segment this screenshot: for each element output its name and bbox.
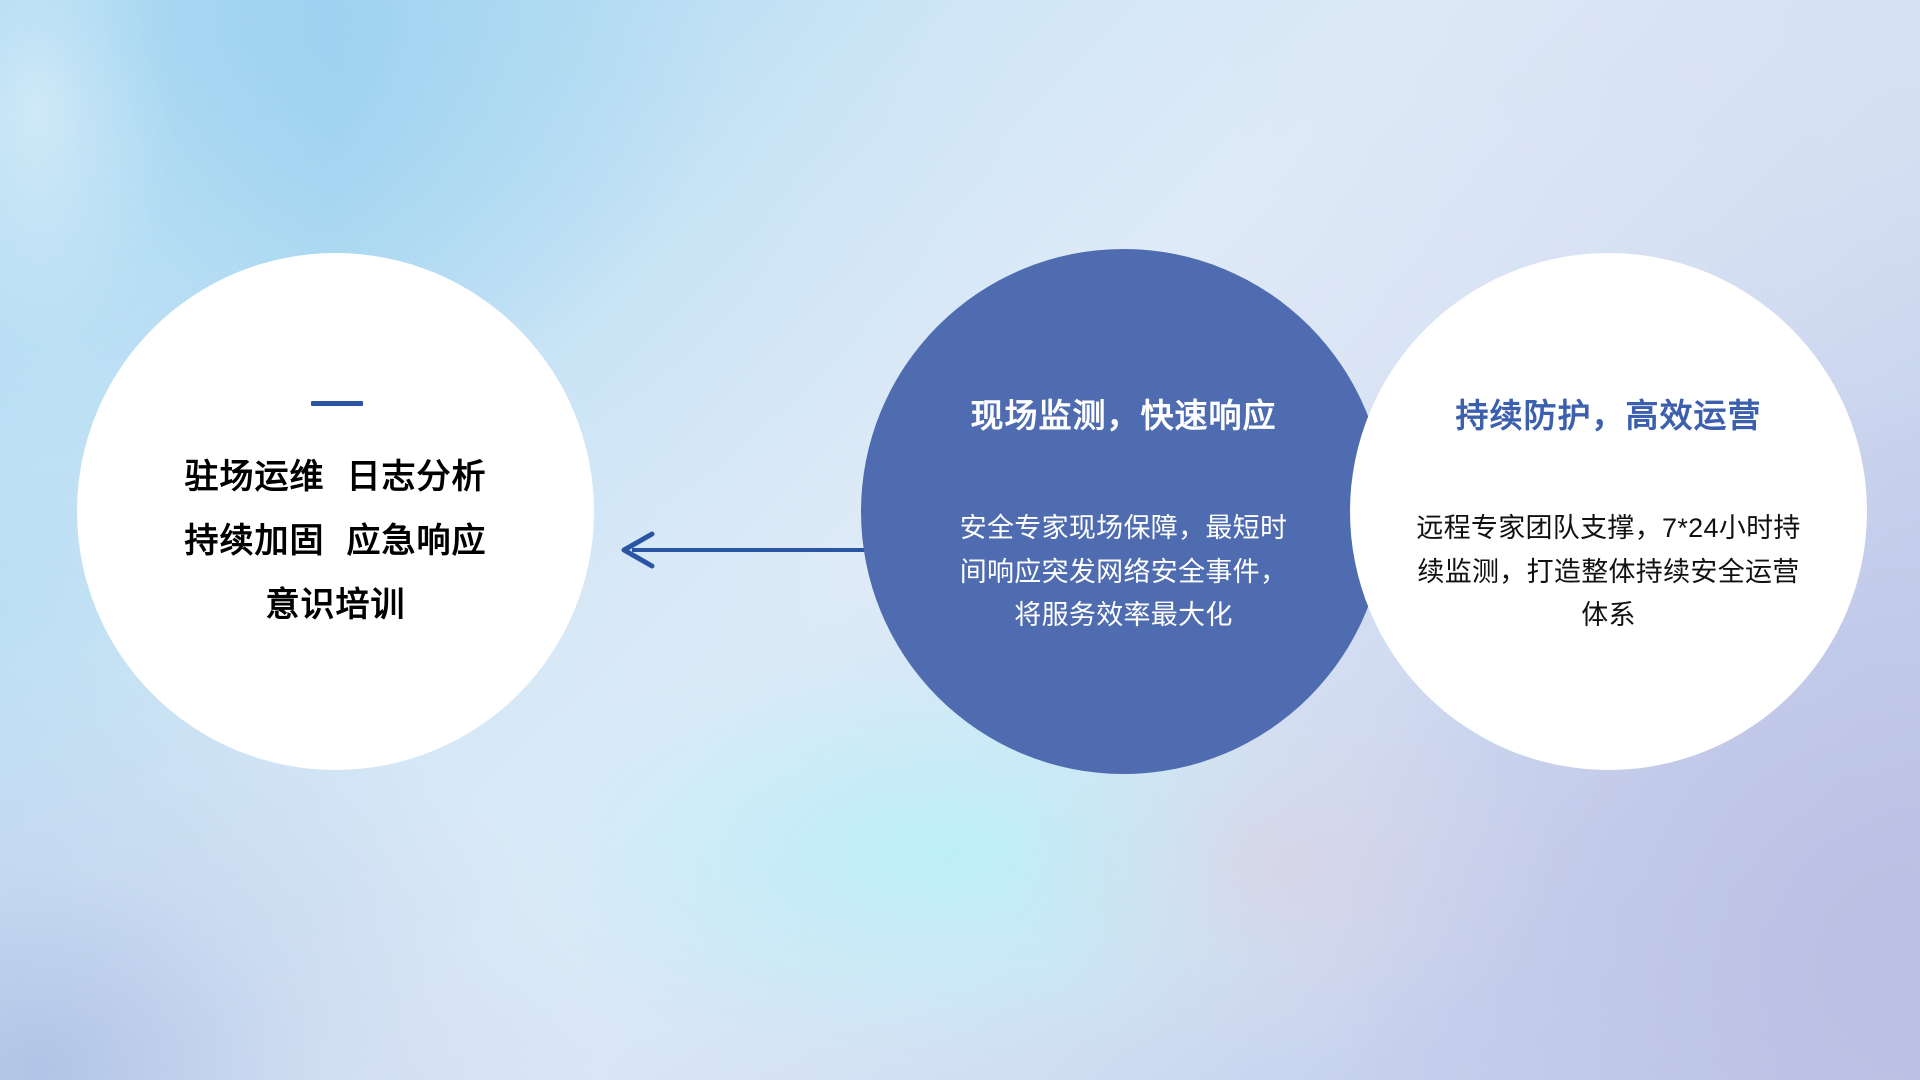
left-circle-content: 驻场运维日志分析 持续加固应急响应 意识培训 (77, 253, 594, 770)
capability-label-emergency-response: 应急响应 (347, 522, 487, 560)
capability-label-onsite-ops: 驻场运维 (185, 458, 325, 496)
right-circle-title: 持续防护，高效运营 (1456, 389, 1762, 437)
middle-circle-body: 安全专家现场保障，最短时间响应突发网络安全事件，将服务效率最大化 (959, 507, 1289, 638)
capability-label-log-analysis: 日志分析 (347, 458, 487, 496)
left-capability-circle: 驻场运维日志分析 持续加固应急响应 意识培训 (77, 253, 594, 770)
slide-canvas: 驻场运维日志分析 持续加固应急响应 意识培训 现场监测，快速响应 安全专家现场保… (0, 0, 1920, 1080)
right-circle-body: 远程专家团队支撑，7*24小时持续监测，打造整体持续安全运营体系 (1409, 507, 1809, 638)
capability-row-3: 意识培训 (266, 588, 406, 622)
middle-circle-title: 现场监测，快速响应 (971, 389, 1277, 437)
middle-circle-content: 现场监测，快速响应 安全专家现场保障，最短时间响应突发网络安全事件，将服务效率最… (861, 249, 1386, 774)
capability-label-awareness-training: 意识培训 (266, 586, 406, 624)
middle-onsite-circle: 现场监测，快速响应 安全专家现场保障，最短时间响应突发网络安全事件，将服务效率最… (861, 249, 1386, 774)
capability-row-2: 持续加固应急响应 (185, 524, 487, 558)
connector-arrow (600, 520, 900, 580)
right-remote-circle: 持续防护，高效运营 远程专家团队支撑，7*24小时持续监测，打造整体持续安全运营… (1350, 253, 1867, 770)
capability-label-continuous-hardening: 持续加固 (185, 522, 325, 560)
divider-line (311, 401, 363, 406)
capability-row-1: 驻场运维日志分析 (185, 460, 487, 494)
right-circle-content: 持续防护，高效运营 远程专家团队支撑，7*24小时持续监测，打造整体持续安全运营… (1350, 253, 1867, 770)
